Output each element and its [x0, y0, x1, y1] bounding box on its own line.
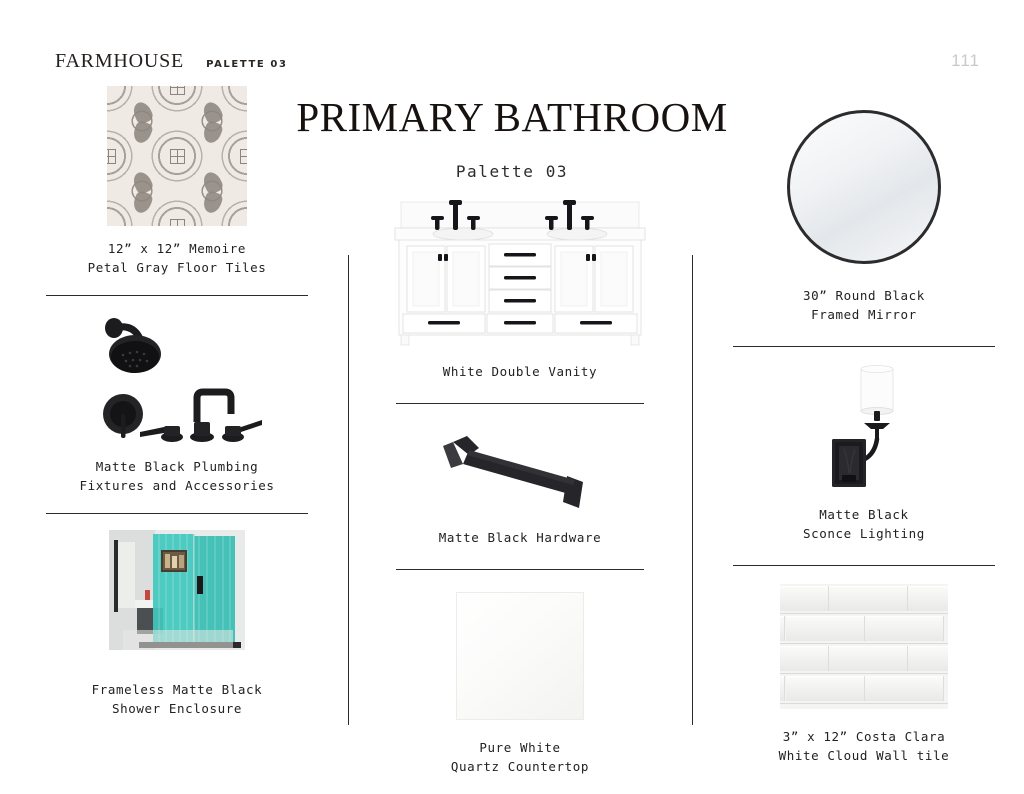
right-divider-2	[733, 565, 995, 566]
center-column: White Double Vanity Matte Black	[381, 190, 659, 776]
matte-black-wall-sconce-icon	[804, 363, 924, 491]
vanity-media	[381, 190, 659, 350]
patterned-floor-tile-swatch-icon	[107, 86, 247, 226]
brand-header: FARMHOUSE PALETTE 03	[55, 50, 288, 73]
wall-tile-caption: 3” x 12” Costa Clara White Cloud Wall ti…	[730, 727, 998, 765]
item-shower-enclosure: Frameless Matte Black Shower Enclosure	[46, 530, 308, 718]
palette-label: PALETTE 03	[206, 59, 287, 70]
item-wall-tile: 3” x 12” Costa Clara White Cloud Wall ti…	[730, 584, 998, 765]
shower-enclosure-media	[46, 530, 308, 666]
plumbing-caption: Matte Black Plumbing Fixtures and Access…	[46, 457, 308, 495]
floor-tile-caption: 12” x 12” Memoire Petal Gray Floor Tiles	[46, 239, 308, 277]
item-plumbing-fixtures: Matte Black Plumbing Fixtures and Access…	[46, 310, 308, 495]
right-column: 30” Round Black Framed Mirror	[730, 110, 998, 765]
matte-black-cabinet-pull-icon	[435, 424, 605, 516]
item-countertop: Pure White Quartz Countertop	[381, 592, 659, 776]
brand-name: FARMHOUSE	[55, 50, 184, 73]
column-divider-right	[692, 255, 693, 725]
countertop-media	[381, 592, 659, 720]
left-divider-2	[46, 513, 308, 514]
white-double-sink-vanity-icon	[391, 190, 649, 350]
mirror-media	[730, 110, 998, 264]
center-divider-2	[396, 569, 644, 570]
item-round-mirror: 30” Round Black Framed Mirror	[730, 110, 998, 324]
sconce-media	[730, 363, 998, 491]
pure-white-quartz-swatch-icon	[456, 592, 584, 720]
floor-tile-media	[46, 86, 308, 226]
item-sconce: Matte Black Sconce Lighting	[730, 363, 998, 543]
wall-tile-media	[730, 584, 998, 709]
vanity-caption: White Double Vanity	[381, 362, 659, 381]
item-floor-tile: 12” x 12” Memoire Petal Gray Floor Tiles	[46, 86, 308, 277]
left-column: 12” x 12” Memoire Petal Gray Floor Tiles	[46, 80, 308, 718]
matte-black-shower-and-faucet-set-icon	[90, 310, 265, 445]
right-divider-1	[733, 346, 995, 347]
frameless-glass-shower-enclosure-icon	[109, 530, 245, 666]
column-divider-left	[348, 255, 349, 725]
sconce-caption: Matte Black Sconce Lighting	[730, 505, 998, 543]
center-divider-1	[396, 403, 644, 404]
white-subway-wall-tile-swatch-icon	[780, 584, 948, 709]
shower-enclosure-caption: Frameless Matte Black Shower Enclosure	[46, 680, 308, 718]
plumbing-media	[46, 310, 308, 445]
round-black-framed-mirror-icon	[787, 110, 941, 264]
countertop-caption: Pure White Quartz Countertop	[381, 738, 659, 776]
palette-board-page: FARMHOUSE PALETTE 03 111 PRIMARY BATHROO…	[0, 0, 1024, 794]
mirror-caption: 30” Round Black Framed Mirror	[730, 286, 998, 324]
item-cabinet-hardware: Matte Black Hardware	[381, 424, 659, 547]
item-double-vanity: White Double Vanity	[381, 190, 659, 381]
page-number: 111	[951, 51, 980, 71]
hardware-caption: Matte Black Hardware	[381, 528, 659, 547]
left-divider-1	[46, 295, 308, 296]
hardware-media	[381, 424, 659, 516]
